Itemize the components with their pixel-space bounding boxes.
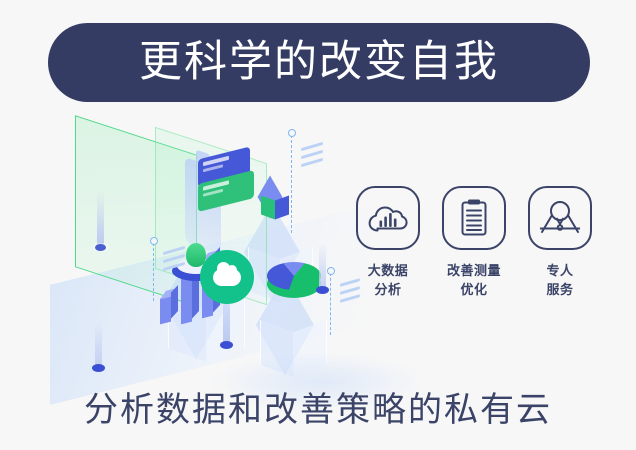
feature-label-line1: 专人 [546, 264, 573, 279]
feature-label-line2: 分析 [374, 283, 401, 298]
thermometer-dot [95, 244, 106, 251]
small-cube-icon [258, 185, 292, 219]
mini-pin-1 [95, 321, 102, 372]
cloud-bar-chart-icon [356, 186, 420, 250]
mini-pin-2 [319, 243, 326, 294]
feature-item-measurement-optimization[interactable]: 改善测量 优化 [438, 186, 510, 326]
feature-item-big-data-analysis[interactable]: 大数据 分析 [352, 186, 424, 326]
cloud-badge-stem [223, 303, 230, 345]
feature-label-line2: 服务 [546, 283, 573, 298]
clipboard-icon [442, 186, 506, 250]
feature-label: 专人 服务 [546, 263, 573, 301]
page-title: 更科学的改变自我 [139, 41, 499, 84]
header-banner: 更科学的改变自我 [48, 23, 590, 102]
feature-label: 改善测量 优化 [447, 263, 501, 301]
feature-label-line1: 大数据 [368, 264, 409, 279]
dashed-connector-2 [291, 135, 292, 233]
feature-label-line1: 改善测量 [447, 264, 501, 279]
footer-tagline: 分析数据和改善策略的私有云 [0, 382, 636, 431]
dashed-connector-1 [153, 243, 154, 301]
dashed-connector-3 [330, 273, 331, 335]
support-person-icon [528, 186, 592, 250]
feature-item-dedicated-service[interactable]: 专人 服务 [524, 186, 596, 326]
feature-list: 大数据 分析 改善测量 优化 [352, 186, 596, 326]
dash-lines-2 [301, 145, 323, 169]
pie-chart-3d-icon [267, 260, 321, 306]
poster-canvas: 更科学的改变自我 [0, 0, 636, 450]
feature-label: 大数据 分析 [368, 263, 409, 301]
cloud-badge-icon [200, 250, 254, 304]
cloud-badge-stem-dot [220, 341, 233, 349]
dash-lines-1 [163, 249, 185, 273]
bar-chart-bar-1 [160, 296, 171, 325]
isometric-illustration [55, 125, 345, 365]
thermometer-icon [97, 190, 104, 248]
feature-label-line2: 优化 [460, 283, 487, 298]
